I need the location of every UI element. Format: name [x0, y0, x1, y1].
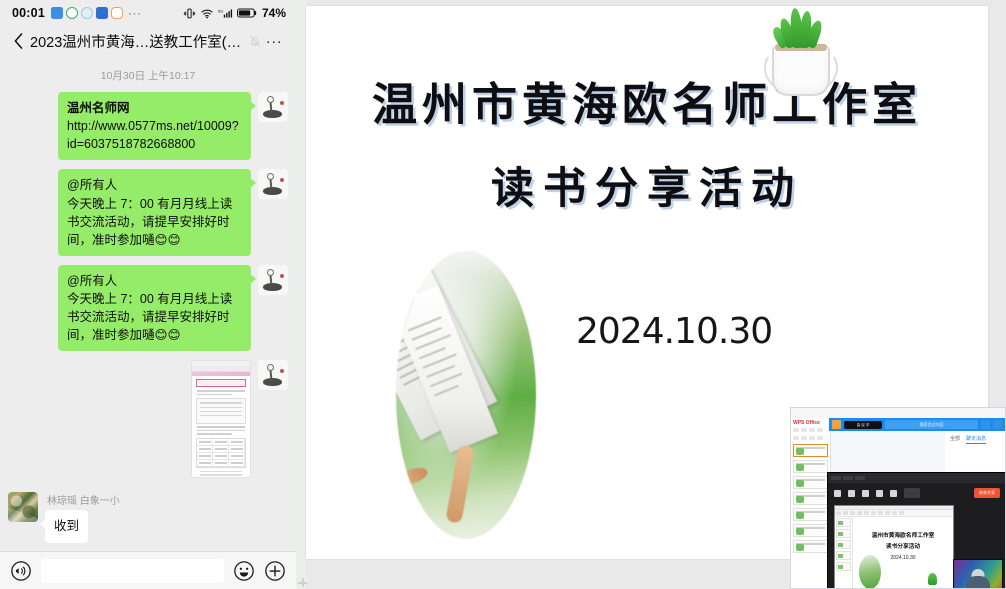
message-row: @所有人 今天晚上 7：00 有月月线上读书交流活动，请提早安排好时间，准时参加… [8, 265, 288, 352]
battery-percent: 74% [262, 6, 286, 20]
more-options-icon[interactable]: ··· [264, 33, 284, 50]
message-bubble-outgoing[interactable]: 温州名师网 http://www.0577ms.net/10009?id=603… [58, 92, 251, 160]
message-text: id=6037518782668800 [67, 137, 195, 151]
chat-title: 2023温州市黄海…送教工作室(16) [26, 31, 246, 52]
battery-icon [237, 7, 257, 19]
avatar[interactable] [8, 492, 38, 522]
messenger-icon [96, 7, 108, 19]
status-clock: 00:01 [12, 6, 45, 20]
bubble-wrap: 温州名师网 http://www.0577ms.net/10009?id=603… [58, 92, 258, 160]
minimize-button[interactable] [981, 420, 990, 429]
nested-slide-canvas[interactable]: 温州市黄海欧名师工作室 读书分享活动 2024.10.30 [853, 517, 953, 589]
message-row: 林琼瑶 白象一小 收到 [8, 492, 288, 542]
plus-icon[interactable] [264, 560, 286, 582]
svg-text:5G: 5G [218, 8, 223, 13]
screen-root: 00:01 ··· [0, 0, 1006, 589]
slide-thumbnail[interactable] [793, 508, 828, 521]
nested-photo-oval [859, 555, 881, 589]
mail-icon [51, 7, 63, 19]
camera-icon[interactable] [848, 490, 855, 497]
message-text: www.0577ms.net/10009? [98, 119, 238, 133]
close-button[interactable] [993, 420, 1002, 429]
voice-input-icon[interactable] [10, 560, 32, 582]
nested-slide-strip[interactable] [835, 517, 853, 589]
stage-left-margin [296, 0, 306, 589]
nested-succulent-icon [928, 573, 937, 585]
nested-slide-title1: 温州市黄海欧名师工作室 [858, 530, 947, 539]
bubble-wrap: @所有人 今天晚上 7：00 有月月线上读书交流活动，请提早安排好时间，准时参加… [58, 169, 258, 256]
slide-date: 2024.10.30 [576, 311, 772, 352]
message-text: 参加嗵😊😊 [117, 328, 181, 342]
shared-screen-titlebar [828, 473, 1006, 483]
slide-thumbnail[interactable] [836, 518, 851, 527]
slide-thumbnail[interactable] [836, 562, 851, 571]
message-input[interactable] [41, 559, 224, 583]
meeting-toolbar[interactable]: 结束共享 [828, 483, 1006, 503]
meeting-title-bar: 会 议 中 搜索会议内容 [829, 418, 1005, 431]
avatar[interactable] [258, 169, 288, 199]
message-mention: @所有人 [67, 176, 242, 194]
corner-mark-icon [298, 578, 307, 587]
chat-icon[interactable] [890, 490, 897, 497]
message-label: 温州名师网 [67, 101, 130, 115]
message-bubble-outgoing[interactable]: @所有人 今天晚上 7：00 有月月线上读书交流活动，请提早安排好时间，准时参加… [58, 265, 251, 352]
avatar[interactable] [258, 265, 288, 295]
succulent-plant-decoration [758, 10, 844, 100]
slide-thumbnail[interactable] [836, 540, 851, 549]
browser-icon [81, 7, 93, 19]
status-system-icons: 5G 74% [183, 6, 286, 20]
message-text: http:// [67, 119, 98, 133]
day-timestamp: 10月30日 上午10:17 [8, 68, 288, 83]
message-text: 参加嗵😊😊 [117, 233, 181, 247]
nested-slide-title2: 读书分享活动 [858, 541, 947, 550]
slide-thumbnail[interactable] [793, 492, 828, 505]
share-icon[interactable] [862, 490, 869, 497]
message-bubble-outgoing[interactable]: @所有人 今天晚上 7：00 有月月线上读书交流活动，请提早安排好时间，准时参加… [58, 169, 251, 256]
meeting-status-pill: 会 议 中 [844, 421, 882, 429]
message-bubble-incoming[interactable]: 收到 [45, 510, 88, 542]
slide-thumbnail[interactable] [793, 444, 828, 457]
meeting-panel-tabs[interactable]: 全部 聊天消息 [945, 431, 1005, 446]
slide-title-line1: 温州市黄海欧名师工作室 [306, 68, 988, 133]
sender-name: 林琼瑶 白象一小 [47, 492, 120, 507]
bubble-wrap: 林琼瑶 白象一小 收到 [38, 492, 120, 542]
message-row [8, 360, 288, 478]
phone-chat-panel: 00:01 ··· [0, 0, 296, 589]
avatar[interactable] [258, 360, 288, 390]
slide-thumbnail[interactable] [836, 529, 851, 538]
status-app-icons: ··· [51, 6, 142, 20]
chat-header: 2023温州市黄海…送教工作室(16) ··· [0, 26, 296, 56]
slide-thumbnail[interactable] [836, 551, 851, 560]
camera-thumbnail[interactable]: 黄海欧 [953, 559, 1003, 589]
presentation-stage: 温州市黄海欧名师工作室 读书分享活动 2024.10.30 [296, 0, 1006, 589]
nested-screen-share[interactable]: WPS Office 会 [790, 395, 1006, 589]
participants-icon[interactable] [876, 490, 883, 497]
image-message-thumbnail[interactable] [191, 360, 251, 478]
slide-title-line2: 读书分享活动 [306, 154, 988, 216]
tab-all[interactable]: 全部 [950, 435, 960, 444]
message-mention: @所有人 [67, 272, 242, 290]
tab-chat-messages[interactable]: 聊天消息 [966, 435, 986, 444]
slide-thumbnail-list[interactable] [791, 442, 830, 555]
slide-thumbnail[interactable] [793, 476, 828, 489]
nested-ppt-window[interactable]: 温州市黄海欧名师工作室 读书分享活动 2024.10.30 [834, 505, 954, 589]
emoji-icon[interactable] [233, 560, 255, 582]
back-icon[interactable] [10, 33, 26, 49]
signal-5g-icon: 5G [218, 7, 233, 20]
status-overflow: ··· [128, 6, 142, 20]
wechat-work-icon [66, 7, 78, 19]
bell-muted-icon [246, 34, 264, 48]
slide-thumbnail[interactable] [793, 540, 828, 553]
shared-screen-viewport[interactable]: 结束共享 [827, 472, 1006, 589]
meeting-search-field[interactable]: 搜索会议内容 [885, 420, 978, 429]
wps-office-label: WPS Office [791, 418, 830, 426]
slide-thumbnail[interactable] [793, 460, 828, 473]
meeting-status-text: 会 议 中 [857, 422, 870, 427]
end-share-label: 结束共享 [979, 490, 995, 496]
chat-input-bar [0, 551, 296, 589]
status-bar: 00:01 ··· [0, 0, 296, 26]
end-share-button[interactable]: 结束共享 [974, 488, 1000, 498]
wps-sidebar[interactable]: WPS Office [791, 418, 831, 588]
message-list[interactable]: 10月30日 上午10:17 温州名师网 http://www.0577ms.n… [0, 56, 296, 551]
bubble-wrap: @所有人 今天晚上 7：00 有月月线上读书交流活动，请提早安排好时间，准时参加… [58, 265, 258, 352]
book-reading-photo [396, 251, 536, 539]
note-icon [111, 7, 123, 19]
meeting-window[interactable]: WPS Office 会 [790, 407, 1006, 589]
user-avatar-icon [832, 420, 841, 429]
message-row: 温州名师网 http://www.0577ms.net/10009?id=603… [8, 92, 288, 160]
slide-thumbnail[interactable] [793, 524, 828, 537]
mic-icon[interactable] [834, 490, 841, 497]
wifi-icon [200, 7, 214, 20]
message-row: @所有人 今天晚上 7：00 有月月线上读书交流活动，请提早安排好时间，准时参加… [8, 169, 288, 256]
meeting-search-text: 搜索会议内容 [920, 422, 944, 428]
vibrate-icon [183, 7, 196, 20]
avatar[interactable] [258, 92, 288, 122]
secondary-button[interactable] [904, 488, 920, 498]
